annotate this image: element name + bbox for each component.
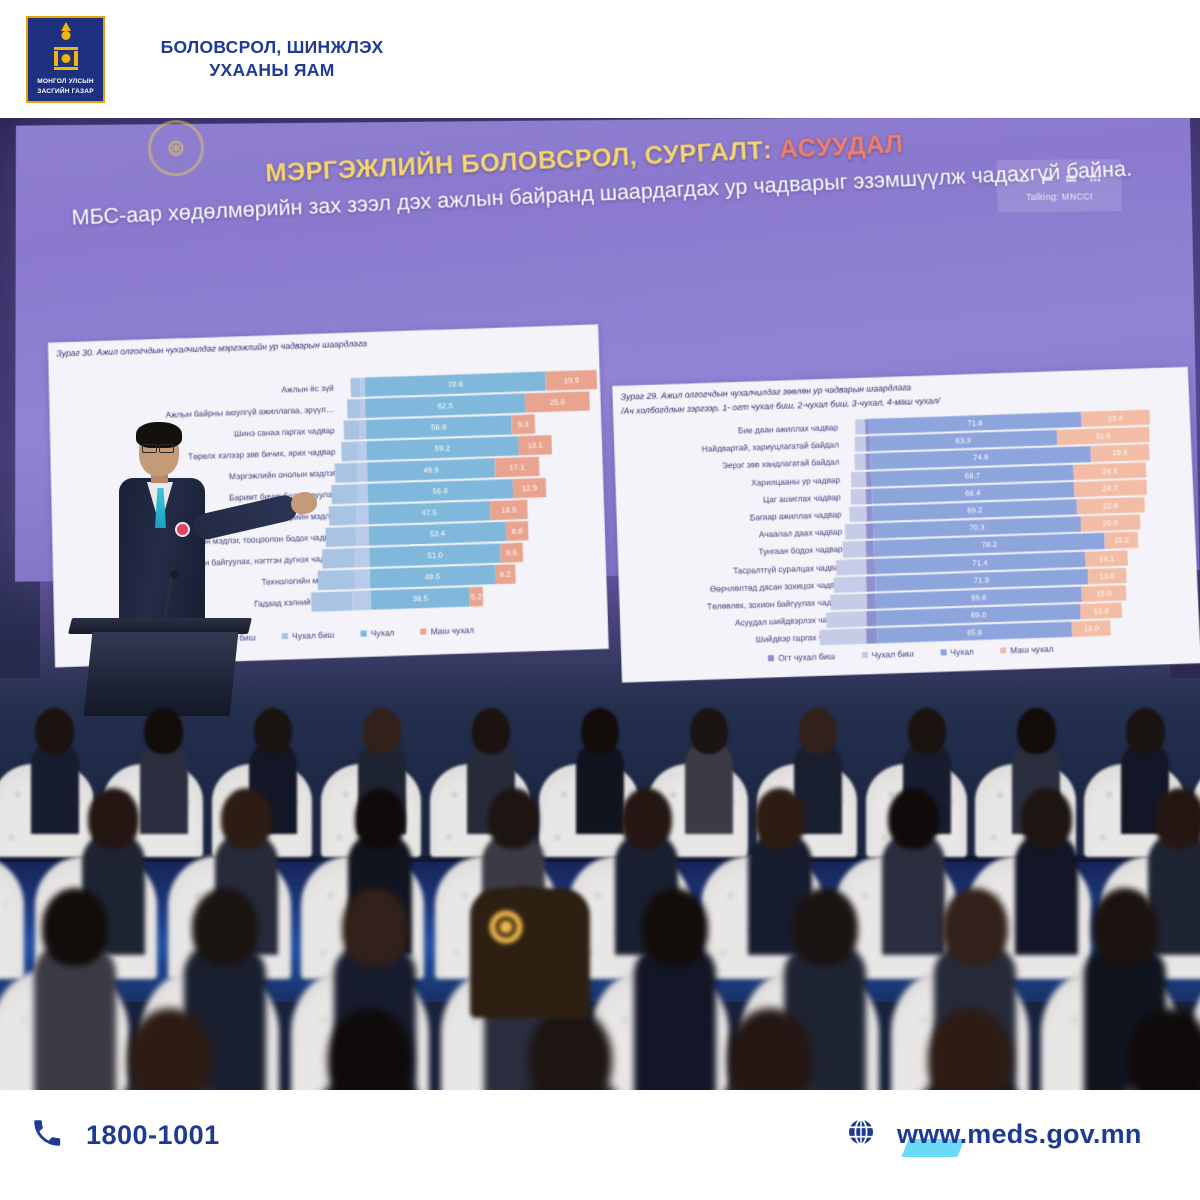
bar-seg-mash-chuhal: 24.7: [1074, 479, 1148, 497]
contact-footer: 1800-1001 www.meds.gov.mn: [0, 1090, 1200, 1200]
soyombo-symbol-icon: [51, 22, 81, 74]
government-emblem: МОНГОЛ УЛСЫН ЗАСГИЙН ГАЗАР: [26, 16, 105, 103]
bar-seg-chuhal-bish: [341, 442, 359, 462]
audience-chair: [0, 856, 24, 979]
bar-seg-chuhal-bish: [328, 505, 357, 525]
bar-seg-mash-chuhal: 12.9: [513, 478, 547, 498]
audience-person-head: [342, 888, 407, 966]
audience-person-body: [31, 741, 79, 834]
bar-seg-chuhal-bish: [344, 420, 360, 440]
bar-seg-chuhal-bish: [347, 399, 360, 419]
bar-seg-mash-chuhal: 24.5: [1074, 462, 1147, 480]
audience-person-head: [1017, 708, 1055, 754]
leopard-print-garment: [470, 888, 590, 1018]
speaker-lapel-pin: [177, 524, 188, 535]
phone-contact[interactable]: 1800-1001: [30, 1116, 220, 1155]
audience-person-head: [363, 708, 401, 754]
bar-seg-mash-chuhal: 8.6: [500, 543, 523, 563]
bar-seg-chuhal-bish: [855, 419, 866, 435]
bar-seg-mash-chuhal: 19.6: [1091, 444, 1149, 461]
audience-person-head: [221, 788, 272, 849]
audience-person-head: [42, 888, 107, 966]
audience-person-head: [642, 888, 707, 966]
audience-person-head: [888, 788, 939, 849]
audience-person-head: [799, 708, 837, 754]
bar-seg-chuhal-bish: [850, 489, 866, 505]
bar-seg-ogt-chuhal-bish: [357, 484, 368, 504]
website-url-wrap: www.meds.gov.mn: [897, 1119, 1142, 1150]
bar-seg-chuhal-bish: [350, 378, 361, 398]
bar-seg-mash-chuhal: 14.5: [490, 500, 528, 521]
microphone-icon: [170, 570, 179, 579]
bar-seg-mash-chuhal: 31.6: [1056, 427, 1150, 445]
audience-person-head: [35, 708, 73, 754]
bar-seg-mash-chuhal: 13.1: [518, 435, 552, 455]
audience-person-head: [908, 708, 946, 754]
chart-left-title: Зураг 30. Ажил олгогчдын чухалчилдаг мэр…: [56, 330, 593, 360]
bar-seg-ogt-chuhal-bish: [357, 505, 369, 525]
bar-seg-chuhal-bish: [854, 454, 866, 470]
emblem-line-1: МОНГОЛ УЛСЫН: [37, 77, 94, 87]
audience-person-head: [472, 708, 510, 754]
minimize-icon[interactable]: [1017, 170, 1029, 188]
bar-seg-ogt-chuhal-bish: [354, 569, 370, 589]
bar-seg-mash-chuhal: 9.3: [511, 414, 535, 434]
social-media-post: МОНГОЛ УЛСЫН ЗАСГИЙН ГАЗАР БОЛОВСРОЛ, ШИ…: [0, 0, 1200, 1200]
audience-person-body: [1015, 832, 1079, 955]
audience-person-head: [1126, 708, 1164, 754]
bar-seg-chuhal-bish: [855, 436, 866, 452]
audience-person-head: [254, 708, 292, 754]
emblem-line-2: ЗАСГИЙН ГАЗАР: [37, 87, 94, 97]
talking-status-label: Talking: MNCCI: [1026, 191, 1093, 202]
audience-person-head: [621, 788, 672, 849]
bar-seg-chuhal-bish: [842, 541, 866, 557]
bar-seg-chuhal-bish: [836, 559, 866, 575]
bar-seg-mash-chuhal: 20.0: [1081, 514, 1141, 531]
video-call-overlay[interactable]: Talking: MNCCI: [997, 159, 1122, 212]
audience-person-head: [1092, 888, 1157, 966]
globe-icon: [845, 1116, 877, 1153]
bar-seg-mash-chuhal: 19.9: [546, 370, 598, 391]
bar-seg-chuhal-bish: [332, 484, 358, 504]
audience-person-body: [576, 741, 624, 834]
phone-number: 1800-1001: [86, 1120, 220, 1151]
single-view-icon[interactable]: [1041, 170, 1053, 188]
bar-seg-mash-chuhal: 13.0: [1088, 567, 1127, 584]
brand-header: МОНГОЛ УЛСЫН ЗАСГИЙН ГАЗАР БОЛОВСРОЛ, ШИ…: [0, 0, 1200, 118]
bar-seg-chuhal-bish: [335, 463, 359, 483]
audience-person-head: [755, 788, 806, 849]
bar-seg-chuhal: 47.5: [368, 501, 490, 524]
audience-person-body: [634, 944, 715, 1090]
phone-icon: [30, 1116, 64, 1155]
bar-seg-chuhal-bish: [849, 506, 867, 522]
audience-person-head: [355, 788, 406, 849]
bar-seg-chuhal-bish: [851, 471, 866, 487]
bar-seg-mash-chuhal: 22.8: [1077, 497, 1145, 515]
bar-seg-mash-chuhal: 8.8: [506, 521, 529, 541]
audience-person-head: [488, 788, 539, 849]
audience-person-head: [792, 888, 857, 966]
speaker-glasses-right: [159, 444, 174, 453]
slide-title-accent-text: АСУУДАЛ: [779, 130, 904, 164]
bar-seg-ogt-chuhal-bish: [355, 548, 370, 568]
audience: [0, 588, 1200, 1090]
bar-seg-mash-chuhal: 11.2: [1105, 532, 1139, 549]
view-mode-icons[interactable]: [1017, 170, 1101, 189]
bar-seg-mash-chuhal: 8.2: [495, 564, 517, 584]
bar-seg-mash-chuhal: 17.1: [495, 457, 539, 478]
audience-person-head: [1021, 788, 1072, 849]
audience-person-head: [581, 708, 619, 754]
grid-view-icon[interactable]: [1089, 170, 1101, 188]
split-view-icon[interactable]: [1065, 170, 1077, 188]
audience-person-body: [882, 832, 946, 955]
audience-person-body: [685, 741, 733, 834]
audience-person-body: [34, 944, 115, 1090]
bar-seg-chuhal-bish: [845, 524, 866, 540]
audience-person-head: [942, 888, 1007, 966]
conference-photo: ⊛ МЭРГЭЖЛИЙН БОЛОВСРОЛ, СУРГАЛТ: АСУУДАЛ…: [0, 118, 1200, 1090]
speaker-glasses-left: [142, 444, 157, 453]
bar-seg-ogt-chuhal-bish: [356, 526, 369, 546]
bar-seg-mash-chuhal: 25.0: [525, 391, 590, 412]
audience-person-head: [144, 708, 182, 754]
website-contact[interactable]: www.meds.gov.mn: [845, 1116, 1142, 1153]
emblem-caption: МОНГОЛ УЛСЫН ЗАСГИЙН ГАЗАР: [37, 77, 94, 97]
bar-seg-chuhal-bish: [322, 548, 356, 568]
audience-person-head: [690, 708, 728, 754]
bar-seg-mash-chuhal: 14.1: [1085, 550, 1127, 567]
audience-person-head: [88, 788, 139, 849]
audience-person-body: [140, 741, 188, 834]
bar-seg-mash-chuhal: 23.4: [1081, 410, 1151, 428]
audience-person-head: [1155, 788, 1200, 849]
audience-person-head: [192, 888, 257, 966]
ministry-title: БОЛОВСРОЛ, ШИНЖЛЭХ УХААНЫ ЯАМ: [122, 36, 422, 82]
website-url: www.meds.gov.mn: [897, 1119, 1142, 1149]
bar-seg-chuhal-bish: [325, 527, 356, 547]
